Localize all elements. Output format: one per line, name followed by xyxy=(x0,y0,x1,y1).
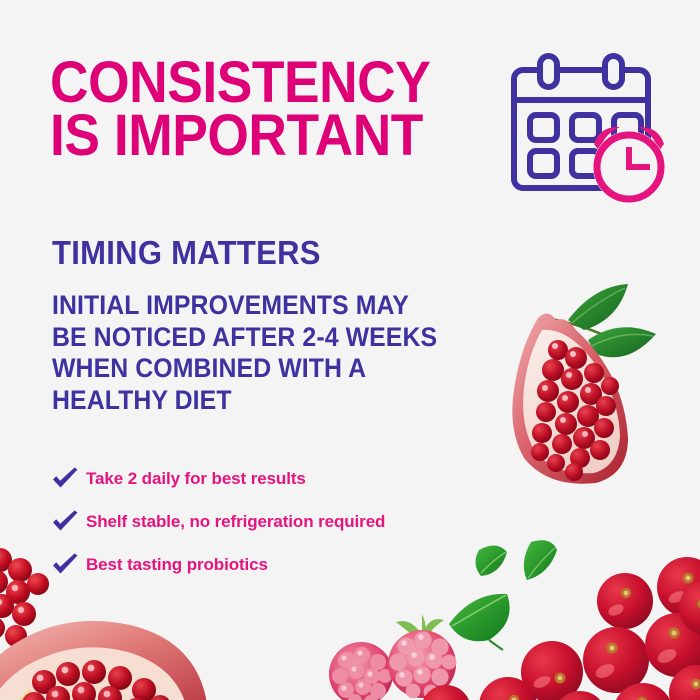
cranberry-image xyxy=(420,684,472,700)
calendar-cell-4 xyxy=(530,151,557,176)
list-item-label: Take 2 daily for best results xyxy=(86,469,306,489)
headline-line-1: CONSISTENCY xyxy=(50,56,455,109)
cranberry-image xyxy=(678,580,700,636)
calendar-cell-2 xyxy=(572,115,599,140)
body-line-1: INITIAL IMPROVEMENTS MAY xyxy=(52,290,437,322)
check-icon xyxy=(50,509,80,535)
list-item: Shelf stable, no refrigeration required xyxy=(50,505,520,539)
body-line-2: BE NOTICED AFTER 2-4 WEEKS xyxy=(52,322,437,354)
calendar-cell-1 xyxy=(530,115,557,140)
calendar-ring-right xyxy=(605,56,622,87)
body-copy: INITIAL IMPROVEMENTS MAY BE NOTICED AFTE… xyxy=(52,290,437,416)
calendar-clock-icon xyxy=(502,52,670,200)
section-subhead: TIMING MATTERS xyxy=(52,236,321,269)
calendar-ring-left xyxy=(540,56,557,87)
headline-line-2: IS IMPORTANT xyxy=(50,109,455,162)
pomegranate-wedge-image xyxy=(496,278,696,493)
cranberry-calyx xyxy=(621,588,631,598)
list-item: Take 2 daily for best results xyxy=(50,462,520,496)
cranberry-image xyxy=(612,682,674,700)
check-icon xyxy=(50,466,80,492)
leaf-upright xyxy=(524,540,557,580)
body-line-4: HEALTHY DIET xyxy=(52,385,437,417)
alarm-clock-icon xyxy=(593,127,665,203)
leaf-small xyxy=(475,545,507,576)
cranberry-image xyxy=(668,664,700,700)
list-item-label: Shelf stable, no refrigeration required xyxy=(86,512,385,532)
list-item-label: Best tasting probiotics xyxy=(86,555,268,575)
cranberry-image xyxy=(478,676,538,700)
promo-graphic: CONSISTENCY IS IMPORTANT xyxy=(0,0,700,700)
cranberry-image xyxy=(552,690,608,700)
pomegranate-half-image xyxy=(0,600,228,700)
body-line-3: WHEN COMBINED WITH A xyxy=(52,353,437,385)
green-leaves-image xyxy=(445,540,580,650)
page-title: CONSISTENCY IS IMPORTANT xyxy=(50,56,455,163)
